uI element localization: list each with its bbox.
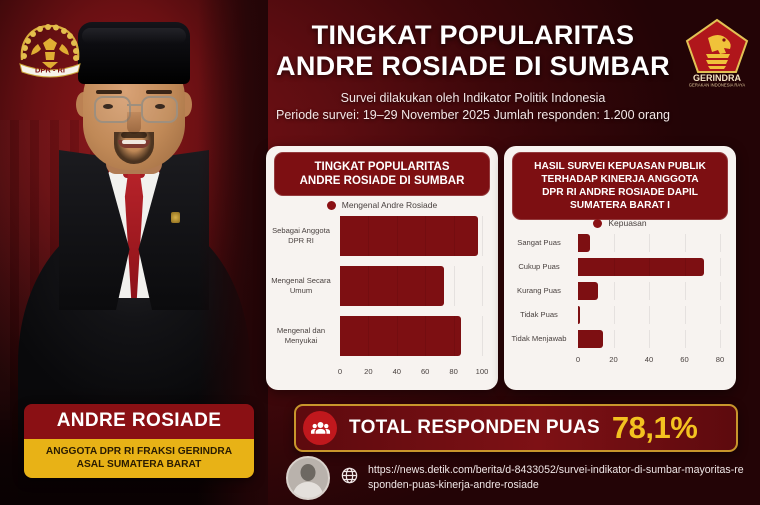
chart-bar-track (340, 266, 482, 306)
chart-bar-row: Sangat Puas (504, 234, 736, 252)
chart-gridline (649, 234, 650, 252)
page-title-line2: ANDRE ROSIADE DI SUMBAR (268, 51, 678, 82)
page-subtitle: Survei dilakukan oleh Indikator Politik … (268, 90, 678, 124)
chart-panel-popularity: TINGKAT POPULARITAS ANDRE ROSIADE DI SUM… (266, 146, 498, 390)
chart-category-label: Tidak Puas (504, 310, 578, 320)
chart-gridline (720, 306, 721, 324)
page-title: TINGKAT POPULARITAS ANDRE ROSIADE DI SUM… (268, 20, 678, 82)
chart-title-satisfaction: HASIL SURVEI KEPUASAN PUBLIK TERHADAP KI… (512, 152, 728, 220)
chart-gridline (482, 216, 483, 256)
chart-bar (578, 234, 590, 252)
dpr-ri-logo: DPR - RI (12, 18, 88, 80)
gerindra-logo-subtext: GERAKAN INDONESIA RAYA (689, 83, 746, 88)
chart-gridline (614, 234, 615, 252)
chart-gridline (685, 258, 686, 276)
legend-label: Mengenal Andre Rosiade (342, 200, 437, 210)
total-value: 78,1% (612, 410, 697, 446)
chart-bar-row: Kurang Puas (504, 282, 736, 300)
chart-gridline (720, 282, 721, 300)
chart-bar-row: Tidak Menjawab (504, 330, 736, 348)
chart-bar-row: Sebagai Anggota DPR RI (266, 216, 498, 256)
globe-icon (340, 466, 359, 490)
chart-gridline (720, 330, 721, 348)
chart-title-line1: HASIL SURVEI KEPUASAN PUBLIK (517, 160, 723, 173)
chart-axis-tick: 20 (609, 355, 617, 364)
chart-axis-tick: 0 (338, 367, 342, 376)
chart-gridline (685, 234, 686, 252)
chart-category-label: Cukup Puas (504, 262, 578, 272)
infographic-canvas: DPR - RI GERINDRA GERAKAN INDONESIA RAYA… (0, 0, 760, 505)
person-role-line1: ANGGOTA DPR RI FRAKSI GERINDRA (28, 445, 250, 458)
chart-bar-track (578, 282, 720, 300)
subtitle-line1: Survei dilakukan oleh Indikator Politik … (268, 90, 678, 107)
chart-bar-track (578, 306, 720, 324)
avatar-body (293, 482, 323, 498)
chart-gridline (649, 330, 650, 348)
total-respondents-banner: TOTAL RESPONDEN PUAS 78,1% (294, 404, 738, 452)
chart-gridline (397, 316, 398, 356)
person-role: ANGGOTA DPR RI FRAKSI GERINDRA ASAL SUMA… (24, 439, 254, 478)
chart-gridline (614, 330, 615, 348)
portrait-brow-right (146, 90, 172, 94)
chart-gridline (685, 330, 686, 348)
chart-legend-popularity: Mengenal Andre Rosiade (266, 200, 498, 210)
portrait-peci-cap (78, 22, 190, 84)
chart-x-axis: 020406080100 (266, 366, 498, 380)
chart-gridline (368, 216, 369, 256)
header: TINGKAT POPULARITAS ANDRE ROSIADE DI SUM… (268, 20, 678, 124)
chart-bar-track (578, 330, 720, 348)
chart-bar (578, 330, 603, 348)
chart-gridline (482, 266, 483, 306)
chart-title-line1: TINGKAT POPULARITAS (279, 160, 485, 174)
chart-bar-row: Mengenal dan Menyukai (266, 316, 498, 356)
legend-dot-icon (593, 219, 602, 228)
chart-gridline (720, 234, 721, 252)
chart-gridline (649, 282, 650, 300)
chart-gridline (425, 266, 426, 306)
chart-gridline (685, 282, 686, 300)
chart-gridline (720, 258, 721, 276)
legend-dot-icon (327, 201, 336, 210)
chart-bar (578, 306, 580, 324)
portrait-nose (127, 112, 141, 134)
dpr-logo-banner-text: DPR - RI (35, 66, 65, 75)
person-role-line2: ASAL SUMATERA BARAT (28, 458, 250, 471)
gerindra-logo: GERINDRA GERAKAN INDONESIA RAYA (684, 18, 750, 88)
chart-bar (340, 316, 461, 356)
legend-label: Kepuasan (608, 218, 646, 228)
chart-category-label: Mengenal Secara Umum (266, 276, 340, 296)
chart-axis-tick: 80 (449, 367, 457, 376)
page-title-line1: TINGKAT POPULARITAS (268, 20, 678, 51)
chart-axis-tick: 100 (476, 367, 489, 376)
portrait-moustache (121, 132, 147, 138)
source-url[interactable]: https://news.detik.com/berita/d-8433052/… (368, 463, 746, 493)
chart-category-label: Kurang Puas (504, 286, 578, 296)
chart-bar-track (340, 316, 482, 356)
chart-axis-tick: 40 (645, 355, 653, 364)
chart-title-line3: DPR RI ANDRE ROSIADE DAPIL (517, 186, 723, 199)
chart-category-label: Sangat Puas (504, 238, 578, 248)
chart-gridline (425, 316, 426, 356)
chart-gridline (397, 216, 398, 256)
chart-bar (340, 266, 444, 306)
chart-gridline (649, 258, 650, 276)
chart-plot-satisfaction: Sangat PuasCukup PuasKurang PuasTidak Pu… (504, 234, 736, 384)
chart-gridline (482, 316, 483, 356)
portrait-lapel-pin (171, 212, 180, 223)
chart-gridline (454, 216, 455, 256)
chart-bar (340, 216, 478, 256)
gerindra-logo-text: GERINDRA (693, 73, 742, 83)
chart-bar-row: Tidak Puas (504, 306, 736, 324)
portrait-brow-left (96, 90, 122, 94)
chart-gridline (454, 316, 455, 356)
people-group-icon (303, 411, 337, 445)
portrait-glasses-left (94, 96, 131, 123)
chart-gridline (649, 306, 650, 324)
chart-axis-tick: 0 (576, 355, 580, 364)
chart-bar-track (578, 234, 720, 252)
subtitle-line2: Periode survei: 19–29 November 2025 Juml… (268, 107, 678, 124)
chart-title-line2: ANDRE ROSIADE DI SUMBAR (279, 174, 485, 188)
chart-bar-row: Mengenal Secara Umum (266, 266, 498, 306)
chart-gridline (685, 306, 686, 324)
chart-category-label: Tidak Menjawab (504, 334, 578, 344)
portrait-teeth (122, 140, 146, 144)
chart-gridline (614, 282, 615, 300)
avatar-head (301, 464, 316, 481)
chart-title-line4: SUMATERA BARAT I (517, 199, 723, 212)
chart-gridline (454, 266, 455, 306)
chart-gridline (368, 316, 369, 356)
chart-bar (578, 282, 598, 300)
chart-axis-tick: 20 (364, 367, 372, 376)
chart-x-axis: 020406080 (504, 354, 736, 368)
chart-gridline (368, 266, 369, 306)
chart-gridline (614, 306, 615, 324)
chart-legend-satisfaction: Kepuasan (504, 218, 736, 228)
chart-gridline (397, 266, 398, 306)
name-banner: ANDRE ROSIADE ANGGOTA DPR RI FRAKSI GERI… (24, 404, 254, 478)
detik-avatar (286, 456, 330, 500)
chart-gridline (614, 258, 615, 276)
chart-bar-track (578, 258, 720, 276)
chart-axis-tick: 80 (716, 355, 724, 364)
chart-title-popularity: TINGKAT POPULARITAS ANDRE ROSIADE DI SUM… (274, 152, 490, 196)
chart-bar-track (340, 216, 482, 256)
chart-gridline (425, 216, 426, 256)
chart-axis-tick: 60 (421, 367, 429, 376)
chart-category-label: Mengenal dan Menyukai (266, 326, 340, 346)
chart-title-line2: TERHADAP KINERJA ANGGOTA (517, 173, 723, 186)
portrait-glasses-right (141, 96, 178, 123)
chart-plot-popularity: Sebagai Anggota DPR RIMengenal Secara Um… (266, 216, 498, 384)
chart-panel-satisfaction: HASIL SURVEI KEPUASAN PUBLIK TERHADAP KI… (504, 146, 736, 390)
chart-bar-row: Cukup Puas (504, 258, 736, 276)
total-label: TOTAL RESPONDEN PUAS (349, 417, 600, 439)
chart-axis-tick: 60 (680, 355, 688, 364)
source-footer: https://news.detik.com/berita/d-8433052/… (286, 456, 746, 500)
chart-axis-tick: 40 (393, 367, 401, 376)
chart-category-label: Sebagai Anggota DPR RI (266, 226, 340, 246)
portrait-glasses-bridge (127, 104, 141, 106)
person-name: ANDRE ROSIADE (24, 404, 254, 439)
